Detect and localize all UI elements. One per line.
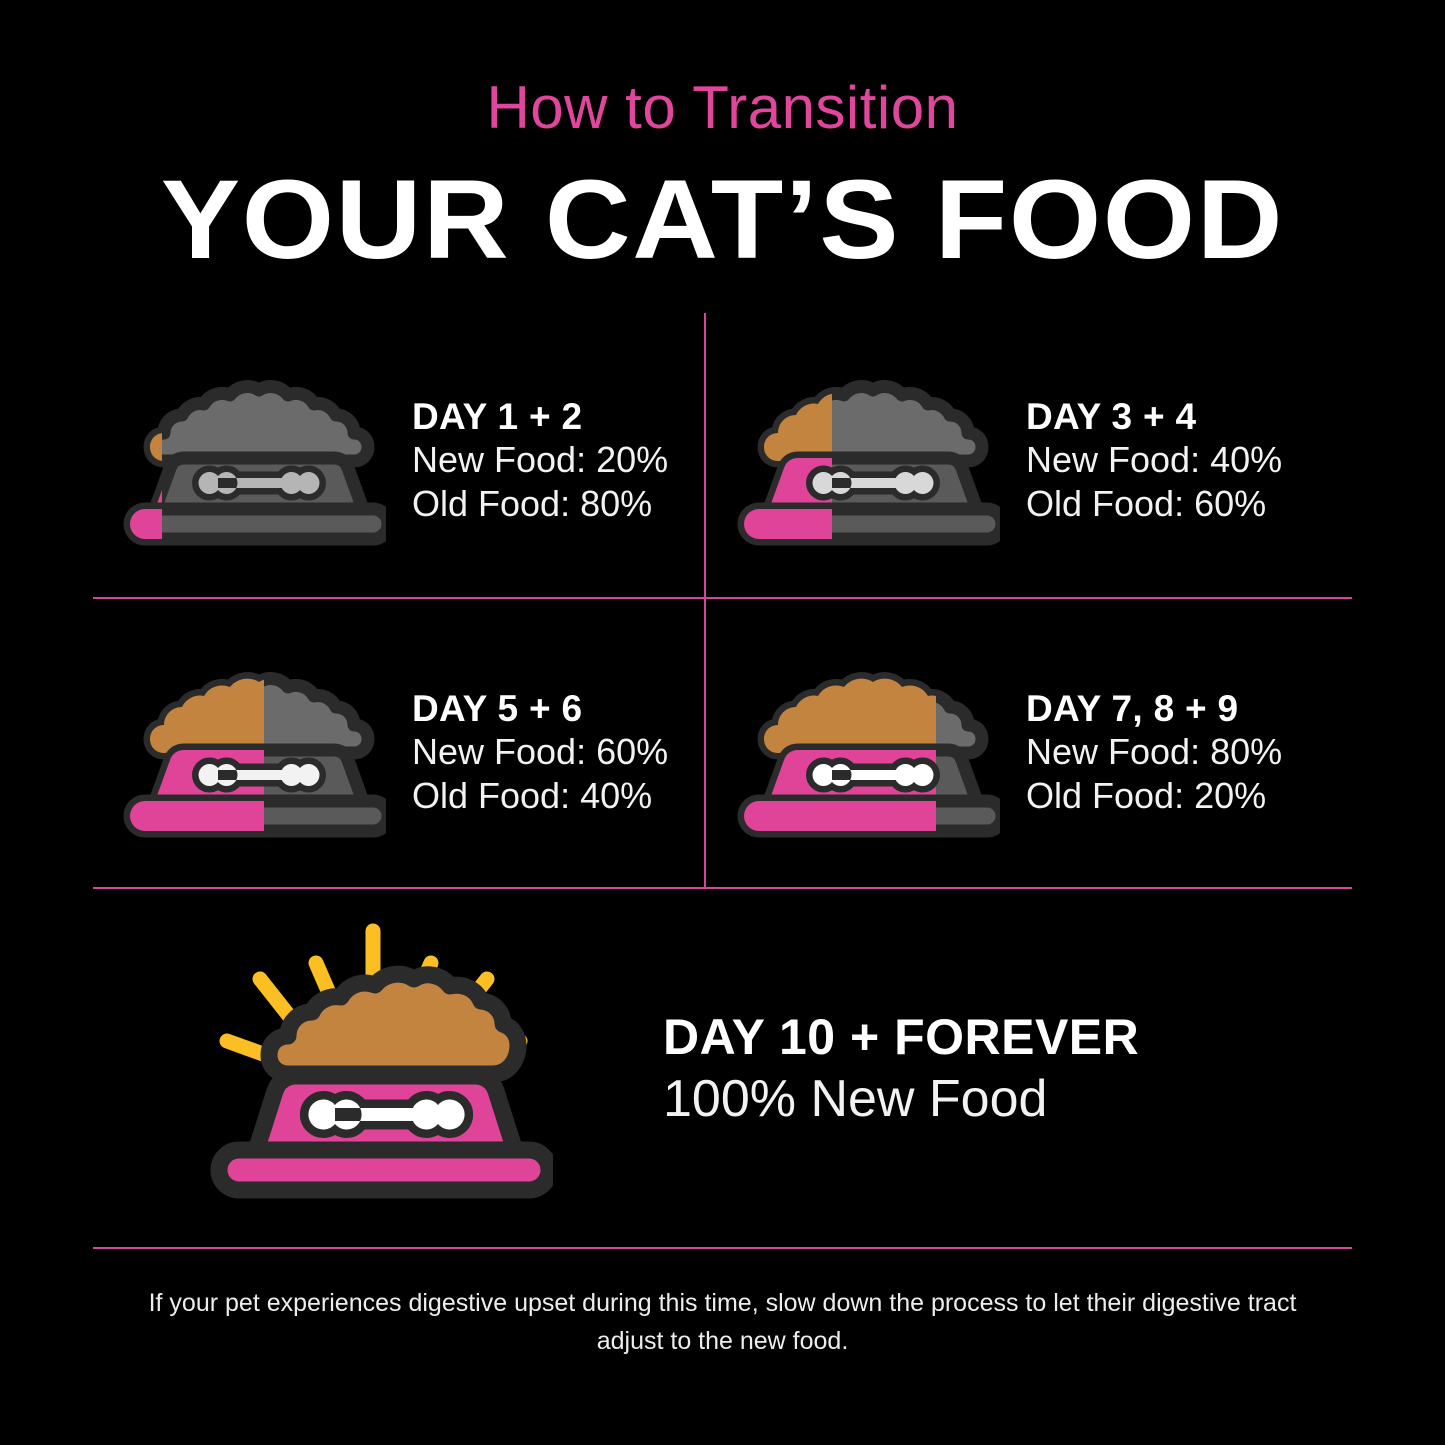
step-title: DAY 5 + 6 bbox=[412, 688, 668, 729]
header: How to Transition YOUR CAT’S FOOD bbox=[0, 0, 1445, 276]
step-new-food-line: New Food: 80% bbox=[1026, 730, 1282, 774]
kibble-mound bbox=[150, 386, 368, 460]
divider-vertical-top bbox=[704, 313, 706, 598]
cat-food-bowl-icon bbox=[106, 369, 386, 554]
step-text-3: DAY 5 + 6 New Food: 60% Old Food: 40% bbox=[412, 688, 668, 817]
footer-note: If your pet experiences digestive upset … bbox=[140, 1285, 1305, 1360]
bowl-slot-1 bbox=[93, 369, 398, 554]
final-bowl-slot bbox=[93, 900, 653, 1238]
bowl-slot-3 bbox=[93, 661, 398, 846]
final-step-title: DAY 10 + FOREVER bbox=[663, 1010, 1139, 1065]
step-new-food-line: New Food: 40% bbox=[1026, 438, 1282, 482]
step-card-day-3-4: DAY 3 + 4 New Food: 40% Old Food: 60% bbox=[707, 330, 1352, 592]
divider-horizontal-mid bbox=[93, 597, 1352, 599]
final-step-text: DAY 10 + FOREVER 100% New Food bbox=[663, 1010, 1139, 1128]
cat-food-bowl-icon bbox=[720, 661, 1000, 846]
bowl-slot-4 bbox=[707, 661, 1012, 846]
bowl-slot-2 bbox=[707, 369, 1012, 554]
step-title: DAY 3 + 4 bbox=[1026, 396, 1282, 437]
step-old-food-line: Old Food: 80% bbox=[412, 482, 668, 526]
divider-horizontal-footer bbox=[93, 1247, 1352, 1249]
final-step-card: DAY 10 + FOREVER 100% New Food bbox=[93, 900, 1352, 1238]
cat-food-bowl-icon bbox=[720, 369, 1000, 554]
cat-food-bowl-icon bbox=[106, 661, 386, 846]
final-step-subtitle: 100% New Food bbox=[663, 1071, 1139, 1128]
cat-food-bowl-sunburst-icon bbox=[193, 919, 553, 1219]
step-card-day-7-8-9: DAY 7, 8 + 9 New Food: 80% Old Food: 20% bbox=[707, 622, 1352, 884]
step-old-food-line: Old Food: 40% bbox=[412, 774, 668, 818]
step-text-2: DAY 3 + 4 New Food: 40% Old Food: 60% bbox=[1026, 396, 1282, 525]
ray-2 bbox=[316, 963, 329, 993]
step-card-day-1-2: DAY 1 + 2 New Food: 20% Old Food: 80% bbox=[93, 330, 703, 592]
step-title: DAY 7, 8 + 9 bbox=[1026, 688, 1282, 729]
page-kicker: How to Transition bbox=[0, 78, 1445, 138]
divider-horizontal-low bbox=[93, 887, 1352, 889]
step-new-food-line: New Food: 20% bbox=[412, 438, 668, 482]
step-text-1: DAY 1 + 2 New Food: 20% Old Food: 80% bbox=[412, 396, 668, 525]
step-old-food-line: Old Food: 20% bbox=[1026, 774, 1282, 818]
step-card-day-5-6: DAY 5 + 6 New Food: 60% Old Food: 40% bbox=[93, 622, 703, 884]
divider-vertical-bottom bbox=[704, 599, 706, 888]
step-text-4: DAY 7, 8 + 9 New Food: 80% Old Food: 20% bbox=[1026, 688, 1282, 817]
step-old-food-line: Old Food: 60% bbox=[1026, 482, 1282, 526]
infographic-poster: How to Transition YOUR CAT’S FOOD bbox=[0, 0, 1445, 1445]
bowl-base bbox=[130, 509, 386, 539]
bowl-base bbox=[219, 1150, 549, 1190]
ray-6 bbox=[227, 1041, 263, 1054]
step-new-food-line: New Food: 60% bbox=[412, 730, 668, 774]
kibble-mound bbox=[269, 974, 518, 1074]
ray-4 bbox=[260, 979, 290, 1017]
step-title: DAY 1 + 2 bbox=[412, 396, 668, 437]
page-title: YOUR CAT’S FOOD bbox=[0, 164, 1445, 276]
